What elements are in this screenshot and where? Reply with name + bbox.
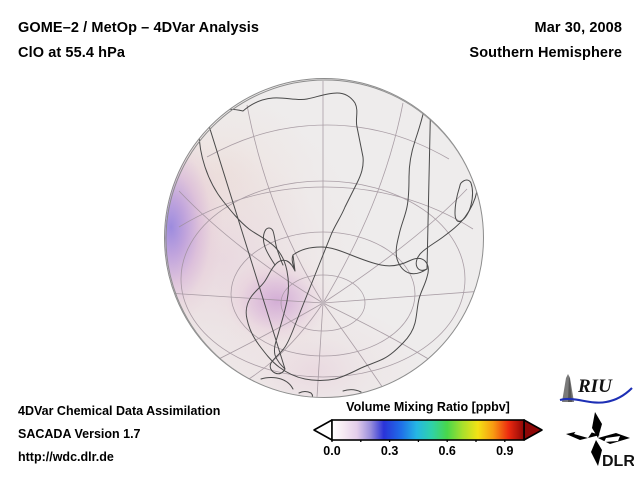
page-subtitle: ClO at 55.4 hPa	[18, 41, 259, 66]
limb-ring	[165, 79, 484, 398]
colorbar-tick-label: 0.0	[323, 444, 340, 458]
page-title: GOME–2 / MetOp – 4DVar Analysis	[18, 16, 259, 41]
colorbar-under-arrow	[314, 420, 332, 440]
colorbar-tick-label: 0.9	[496, 444, 513, 458]
region-label: Southern Hemisphere	[469, 41, 622, 66]
colorbar-tick-label: 0.6	[438, 444, 455, 458]
footer-credits: 4DVar Chemical Data Assimilation SACADA …	[18, 400, 220, 469]
colorbar-graphic	[310, 418, 546, 442]
colorbar-gradient-bar	[332, 420, 524, 440]
dlr-wordmark: DLR	[602, 453, 634, 470]
credit-line-url[interactable]: http://wdc.dlr.de	[18, 446, 220, 469]
riu-logo: RIU	[556, 372, 634, 406]
riu-spire-icon	[562, 374, 574, 402]
globe-map	[164, 78, 484, 398]
credit-line-project: 4DVar Chemical Data Assimilation	[18, 400, 220, 423]
colorbar-tick-label: 0.3	[381, 444, 398, 458]
header-right: Mar 30, 2008 Southern Hemisphere	[469, 16, 622, 66]
dlr-logo: DLR	[562, 408, 634, 470]
credit-line-version: SACADA Version 1.7	[18, 423, 220, 446]
colorbar-title: Volume Mixing Ratio [ppbv]	[310, 400, 546, 414]
colorbar-tick-labels: 0.00.30.60.9	[310, 444, 546, 462]
date-label: Mar 30, 2008	[469, 16, 622, 41]
colorbar: Volume Mixing Ratio [ppbv] 0.00.30.60.9	[310, 400, 546, 462]
colorbar-over-arrow	[524, 420, 542, 440]
riu-wordmark: RIU	[577, 376, 613, 397]
colorbar-svg	[310, 418, 546, 442]
header-left: GOME–2 / MetOp – 4DVar Analysis ClO at 5…	[18, 16, 259, 66]
globe-disc	[164, 78, 484, 398]
